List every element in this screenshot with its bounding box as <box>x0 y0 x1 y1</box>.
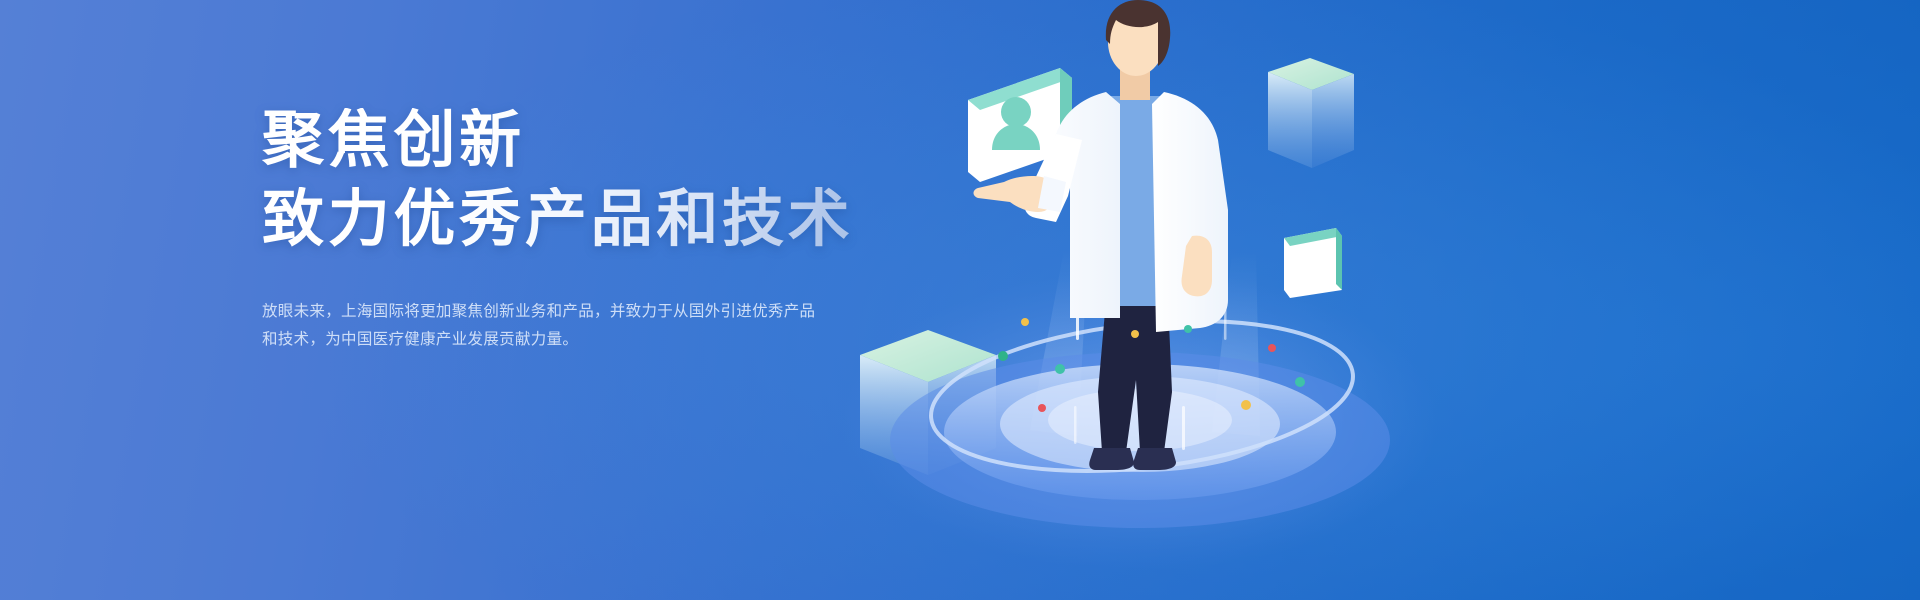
card-right <box>1284 228 1342 298</box>
banner-illustration <box>820 0 1920 600</box>
pillar-top-right <box>1268 58 1354 168</box>
banner-subtitle: 放眼未来，上海国际将更加聚焦创新业务和产品，并致力于从国外引进优秀产品 和技术，… <box>262 298 862 354</box>
doctor-shoe-left <box>1089 448 1134 470</box>
doctor-coat-right <box>1152 92 1228 332</box>
doctor-shoe-right <box>1133 448 1176 470</box>
hero-banner: 聚焦创新 致力优秀产品和技术 放眼未来，上海国际将更加聚焦创新业务和产品，并致力… <box>0 0 1920 600</box>
subtitle-line-2: 和技术，为中国医疗健康产业发展贡献力量。 <box>262 326 862 354</box>
subtitle-line-1: 放眼未来，上海国际将更加聚焦创新业务和产品，并致力于从国外引进优秀产品 <box>262 298 862 326</box>
